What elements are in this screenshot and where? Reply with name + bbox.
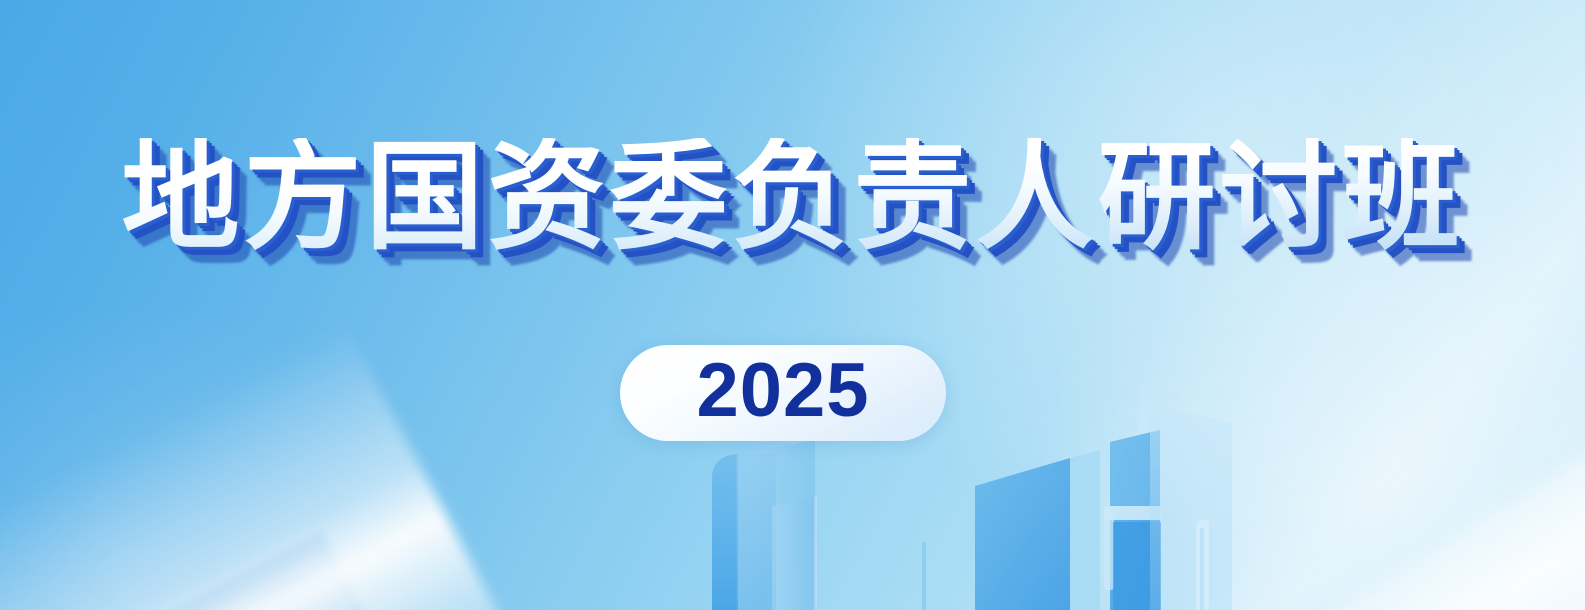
year-label: 2025: [696, 353, 869, 429]
year-badge: 2025: [620, 345, 946, 441]
sky-glow-left: [0, 300, 480, 610]
event-banner: 地方国资委负责人研讨班 2025: [0, 0, 1585, 610]
light-streak-bottom-left: [0, 322, 541, 610]
skyline-rear-glass-wall: [1150, 405, 1232, 610]
skyline-spire-tower: [1104, 388, 1162, 610]
light-streak-bottom-left-shade: [0, 532, 464, 610]
skyline-thin-mast: [922, 542, 926, 610]
page-title: 地方国资委负责人研讨班: [121, 138, 1463, 256]
light-streak-bottom-right: [1267, 377, 1585, 610]
skyline-centre-tower: [975, 450, 1100, 610]
skyline-left-cluster: [712, 440, 817, 610]
light-streak-top-right: [1023, 0, 1585, 610]
sky-glow-upper-right: [780, 0, 1585, 540]
skyline-right-pole: [1196, 520, 1209, 610]
title-container: 地方国资委负责人研讨班: [0, 138, 1585, 256]
